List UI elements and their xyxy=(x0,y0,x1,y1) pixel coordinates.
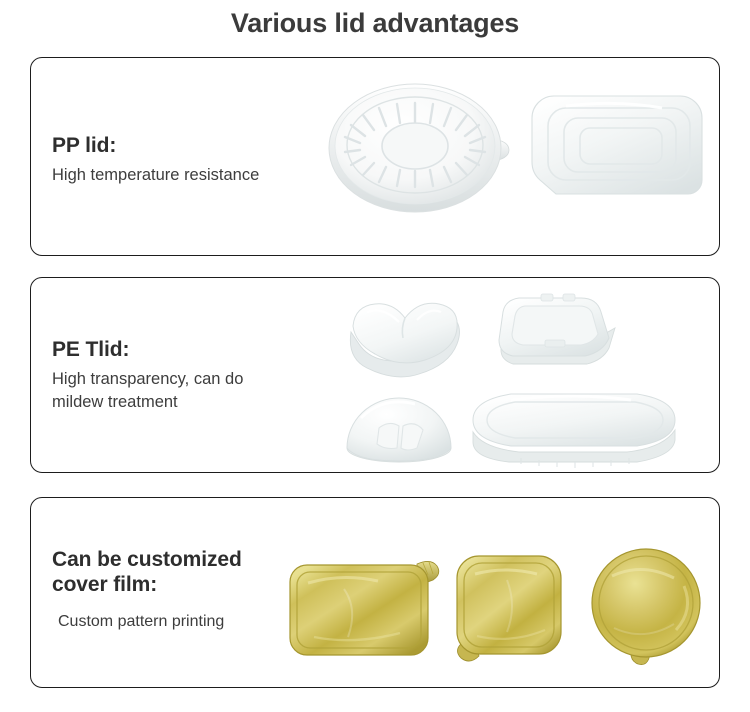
round-gold-foil-cover-image xyxy=(584,546,714,671)
card-pe-lid-description-line-2: mildew treatment xyxy=(52,391,307,414)
card-cover-film-figures xyxy=(309,498,719,687)
card-pe-lid-heading: PE Tlid: xyxy=(52,338,307,363)
card-pp-lid-text: PP lid: High temperature resistance xyxy=(52,134,307,187)
card-pe-lid-text: PE Tlid: High transparency, can do milde… xyxy=(52,338,307,415)
card-pp-lid-description: High temperature resistance xyxy=(52,164,307,187)
infographic-page: Various lid advantages PP lid: High temp… xyxy=(0,0,750,712)
square-gold-foil-cover-image xyxy=(449,550,579,670)
oval-pe-lid-image xyxy=(467,388,682,473)
card-cover-film-heading: Can be customized cover film: xyxy=(52,548,307,598)
card-pp-lid-heading: PP lid: xyxy=(52,134,307,159)
card-pe-lid-description: High transparency, can do mildew treatme… xyxy=(52,368,307,415)
card-pe-lid-figures xyxy=(309,278,719,472)
rectangular-pp-lid-image xyxy=(526,72,720,222)
page-title: Various lid advantages xyxy=(0,8,750,39)
round-pp-lid-image xyxy=(327,76,527,226)
card-cover-film-heading-line-2: cover film: xyxy=(52,573,307,598)
card-pp-lid-figures xyxy=(309,58,719,255)
card-pe-lid-description-line-1: High transparency, can do xyxy=(52,368,307,391)
card-cover-film-heading-line-1: Can be customized xyxy=(52,548,307,573)
square-pe-lid-image xyxy=(489,288,624,388)
card-cover-film-text: Can be customized cover film: Custom pat… xyxy=(52,548,307,633)
card-cover-film-description: Custom pattern printing xyxy=(52,611,307,634)
card-cover-film: Can be customized cover film: Custom pat… xyxy=(30,497,720,688)
dome-pe-lid-image xyxy=(339,382,464,472)
heart-pe-lid-image xyxy=(337,292,477,387)
rectangular-gold-foil-cover-image xyxy=(284,553,459,663)
card-pe-lid: PE Tlid: High transparency, can do milde… xyxy=(30,277,720,473)
card-pp-lid: PP lid: High temperature resistance xyxy=(30,57,720,256)
